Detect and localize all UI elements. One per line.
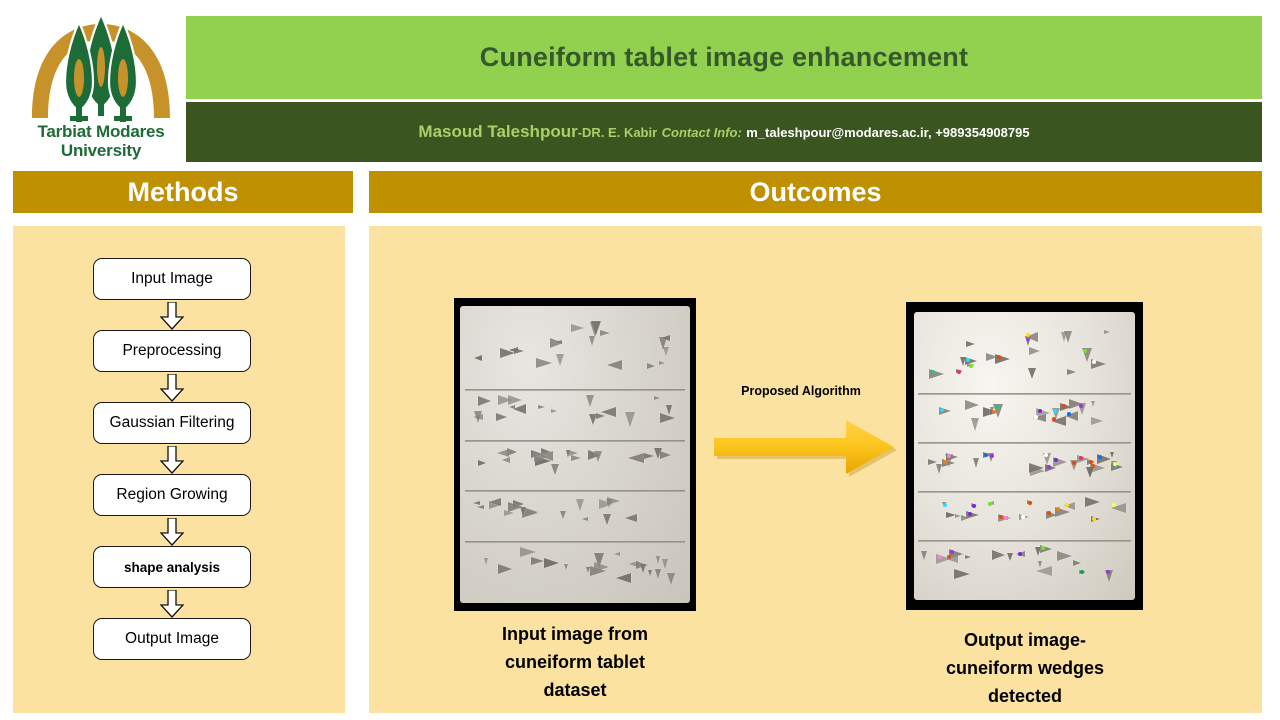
detected-wedge-marker [1092,517,1096,521]
cuneiform-wedge-glyph [600,330,610,336]
university-logo: Tarbiat Modares University [22,12,180,164]
cuneiform-wedge-glyph [1085,497,1100,507]
cuneiform-wedge-glyph [607,360,622,370]
author-contact-bar: Masoud Taleshpour-DR. E. Kabir Contact I… [186,102,1262,162]
cuneiform-wedge-glyph [500,348,515,358]
detected-wedge-marker [1018,552,1022,556]
poster-title-bar: Cuneiform tablet image enhancement [186,16,1262,99]
cuneiform-wedge-glyph [601,407,616,417]
tablet-surface [460,306,690,603]
detected-wedge-marker [988,502,992,506]
cuneiform-wedge-glyph [586,567,590,573]
cuneiform-wedge-glyph [508,502,523,512]
cuneiform-wedge-glyph [1029,463,1044,473]
cuneiform-wedge-glyph [655,569,661,579]
flow-step-output-image: Output Image [93,618,251,660]
cuneiform-wedge-glyph [603,514,611,525]
caption-line: detected [905,682,1145,710]
cuneiform-wedge-glyph [594,451,602,462]
cuneiform-wedge-glyph [489,498,501,506]
tablet-rule-line [465,389,686,391]
cuneiform-wedge-glyph [1028,368,1036,379]
cuneiform-wedge-glyph [1091,401,1095,407]
cuneiform-wedge-glyph [625,412,635,427]
logo-name-line2: University [22,141,180,160]
cuneiform-wedge-glyph [661,335,670,341]
detected-wedge-marker [1062,404,1066,408]
cuneiform-wedge-glyph [1036,566,1052,576]
cuneiform-wedge-glyph [536,358,552,368]
cuneiform-wedge-glyph [514,348,524,354]
proposed-algorithm-arrow-icon [708,416,900,478]
detected-wedge-marker [1021,515,1025,519]
flow-step-label: shape analysis [124,560,220,575]
cuneiform-wedge-glyph [648,570,652,576]
cuneiform-wedge-glyph [1035,547,1041,556]
cuneiform-wedge-glyph [954,569,970,579]
cuneiform-wedge-glyph [614,552,620,556]
cuneiform-wedge-glyph [607,497,620,505]
cuneiform-wedge-glyph [965,555,971,559]
cuneiform-wedge-glyph [502,457,510,463]
cuneiform-wedge-glyph [478,460,486,466]
flow-arrow-down-icon [160,518,184,548]
detected-wedge-marker [943,503,947,507]
cuneiform-wedge-glyph [656,556,660,564]
author-line: Masoud Taleshpour-DR. E. Kabir Contact I… [418,122,1029,142]
cuneiform-wedge-glyph [531,557,544,565]
input-image-caption: Input image from cuneiform tablet datase… [450,620,700,704]
cuneiform-wedge-glyph [556,354,564,366]
flow-step-region-growing: Region Growing [93,474,251,516]
cuneiform-wedge-glyph [659,361,665,365]
outcomes-section-header: Outcomes [369,171,1262,213]
cuneiform-wedge-glyph [666,405,672,415]
flow-step-label: Preprocessing [122,342,221,360]
cuneiform-wedge-glyph [1067,369,1076,375]
detected-wedge-marker [957,370,961,374]
detected-wedge-marker [1089,460,1093,464]
cuneiform-wedge-glyph [589,336,595,346]
caption-line: cuneiform tablet [450,648,700,676]
cuneiform-wedge-glyph [971,418,979,431]
cuneiform-wedge-glyph [616,573,631,583]
methods-flowchart: Input Image Preprocessing Gaussian Filte… [81,258,264,670]
cuneiform-wedge-glyph [477,505,484,509]
cuneiform-wedge-glyph [560,511,566,519]
logo-mark-icon [22,12,180,124]
cuneiform-wedge-glyph [960,357,966,366]
cuneiform-wedge-glyph [498,564,512,574]
cuneiform-wedge-glyph [551,409,557,413]
tablet-rule-line [465,440,686,442]
cuneiform-wedge-glyph [1104,330,1110,334]
cuneiform-wedge-glyph [571,324,584,332]
detected-wedge-marker [1038,409,1042,413]
detected-wedge-marker [995,405,999,409]
detected-wedge-marker [931,370,935,374]
cuneiform-wedge-glyph [644,453,654,459]
cuneiform-wedge-glyph [474,411,482,423]
cuneiform-wedge-glyph [1057,551,1072,561]
cuneiform-wedge-glyph [921,551,927,560]
detected-wedge-marker [1047,465,1051,469]
methods-section-title: Methods [128,177,239,208]
cuneiform-wedge-glyph [473,501,480,505]
contact-info-value: m_taleshpour@modares.ac.ir, +98935490879… [746,125,1029,140]
flow-step-label: Output Image [125,630,219,648]
detected-wedge-marker [1028,501,1032,505]
flow-step-preprocessing: Preprocessing [93,330,251,372]
cuneiform-wedge-glyph [647,363,655,369]
cuneiform-wedge-glyph [936,464,942,474]
flow-step-label: Gaussian Filtering [110,414,235,432]
cuneiform-wedge-glyph [1086,467,1094,478]
cuneiform-wedge-glyph [966,341,975,347]
detected-wedge-marker [997,355,1001,359]
cuneiform-wedge-glyph [1007,553,1013,561]
flow-step-shape-analysis: shape analysis [93,546,251,588]
cuneiform-wedge-glyph [961,515,969,521]
detected-wedge-marker [1092,360,1096,364]
cuneiform-wedge-glyph [554,340,562,344]
cuneiform-wedge-glyph [662,559,668,569]
cuneiform-wedge-glyph [497,449,509,457]
flow-arrow-down-icon [160,302,184,332]
cuneiform-wedge-glyph [551,464,559,475]
cuneiform-wedge-glyph [566,450,570,458]
cuneiform-wedge-glyph [534,452,548,462]
cuneiform-wedge-glyph [544,558,559,568]
cuneiform-wedge-glyph [625,514,637,522]
methods-section-header: Methods [13,171,353,213]
cuneiform-wedge-glyph [569,450,578,456]
cuneiform-wedge-glyph [478,396,491,406]
cuneiform-wedge-glyph [955,514,961,518]
cuneiform-wedge-glyph [928,459,937,465]
caption-line: cuneiform wedges [905,654,1145,682]
flow-step-label: Input Image [131,270,213,288]
cuneiform-wedge-glyph [628,453,644,463]
cuneiform-wedge-glyph [594,562,609,572]
cuneiform-wedge-glyph [1091,417,1103,425]
cuneiform-wedge-glyph [474,355,482,361]
cuneiform-wedge-glyph [660,451,671,459]
tablet-rule-line [918,442,1130,444]
flow-arrow-down-icon [160,374,184,404]
caption-line: Input image from [450,620,700,648]
cuneiform-wedge-glyph [640,564,646,573]
cuneiform-wedge-glyph [509,405,515,409]
detected-wedge-marker [972,504,976,508]
contact-info-label: Contact Info: [662,125,742,140]
detected-wedge-marker [1072,461,1076,465]
flow-step-label: Region Growing [116,486,227,504]
flow-step-gaussian-filtering: Gaussian Filtering [93,402,251,444]
caption-line: dataset [450,676,700,704]
caption-line: Output image- [905,626,1145,654]
tablet-rule-line [918,540,1130,542]
flow-step-input-image: Input Image [93,258,251,300]
cuneiform-wedge-glyph [576,499,584,511]
author-advisor: -DR. E. Kabir [578,125,657,140]
detected-wedge-marker [947,454,951,458]
flow-arrow-down-icon [160,590,184,620]
cuneiform-wedge-glyph [1029,347,1040,355]
cuneiform-wedge-glyph [484,558,488,565]
detected-wedge-marker [1079,456,1083,460]
cuneiform-wedge-glyph [571,455,581,461]
cuneiform-wedge-glyph [973,458,979,468]
input-tablet-image [454,298,696,611]
cuneiform-wedge-glyph [667,573,675,585]
tablet-rule-line [465,541,686,543]
cuneiform-wedge-glyph [538,405,545,409]
cuneiform-wedge-glyph [582,517,588,521]
detected-wedge-marker [1080,570,1084,574]
tablet-rule-line [918,393,1130,395]
flow-arrow-down-icon [160,446,184,476]
cuneiform-wedge-glyph [1064,331,1072,343]
cuneiform-wedge-glyph [496,413,507,421]
cuneiform-wedge-glyph [564,564,568,570]
logo-wordmark: Tarbiat Modares University [22,122,180,160]
tablet-surface-enhanced [914,312,1135,600]
cuneiform-wedge-glyph [586,395,594,407]
tablet-rule-line [465,490,686,492]
cuneiform-wedge-glyph [965,400,979,410]
detected-wedge-marker [1067,412,1071,416]
detected-wedge-marker [1113,462,1117,466]
cuneiform-wedge-glyph [520,547,536,557]
proposed-algorithm-label: Proposed Algorithm [710,384,892,398]
outcomes-section-title: Outcomes [749,177,881,208]
cuneiform-wedge-glyph [992,550,1005,560]
cuneiform-wedge-glyph [1073,560,1081,566]
output-tablet-image [906,302,1143,610]
cuneiform-wedge-glyph [663,347,669,356]
cuneiform-wedge-glyph [591,321,601,335]
detected-wedge-marker [990,454,994,458]
logo-name-line1: Tarbiat Modares [37,122,164,141]
detected-wedge-marker [938,555,942,559]
detected-wedge-marker [1083,349,1087,353]
cuneiform-wedge-glyph [654,396,660,400]
poster-title: Cuneiform tablet image enhancement [480,42,968,73]
detected-wedge-marker [966,358,970,362]
output-image-caption: Output image- cuneiform wedges detected [905,626,1145,710]
tablet-rule-line [918,491,1130,493]
author-name: Masoud Taleshpour [418,122,577,141]
